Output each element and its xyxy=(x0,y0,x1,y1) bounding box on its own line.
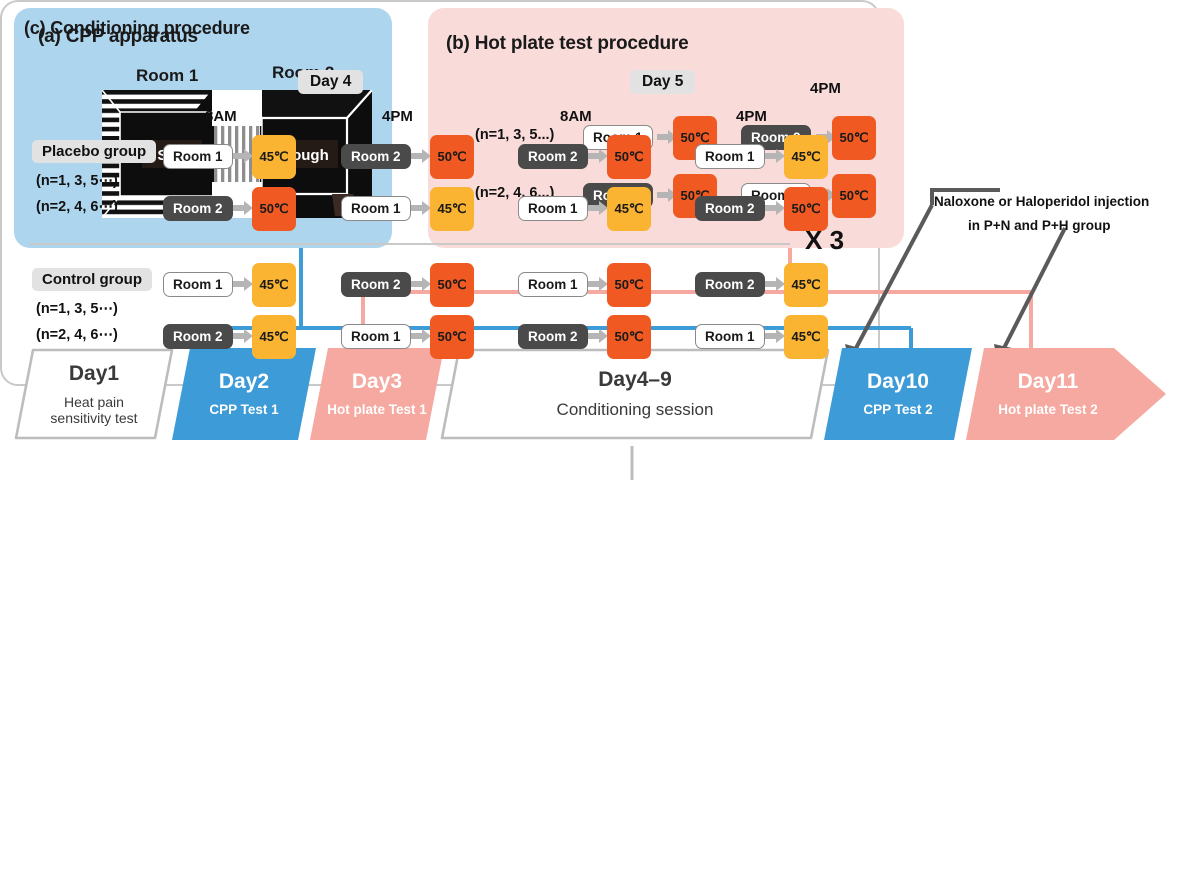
timeline-step-day10[interactable]: Day10 CPP Test 2 xyxy=(824,348,972,440)
timeline-step-day11[interactable]: Day11 Hot plate Test 2 xyxy=(966,348,1166,440)
placebo-r2-c1-room: Room 2 xyxy=(163,196,233,221)
arrow-right-icon xyxy=(588,201,608,215)
arrow-right-icon xyxy=(765,149,785,163)
arrow-right-icon xyxy=(765,329,785,343)
panel-c-placebo-n-odd: (n=1, 3, 5⋯) xyxy=(36,173,118,189)
arrow-right-icon xyxy=(411,329,431,343)
timeline-day-label: Day4–9 xyxy=(598,368,672,391)
arrow-right-icon xyxy=(588,149,608,163)
panel-c-group-label-placebo: Placebo group xyxy=(32,140,156,163)
control-r2-c3-room: Room 2 xyxy=(518,324,588,349)
placebo-r1-c2-temp: 50℃ xyxy=(430,135,474,179)
group-divider xyxy=(30,243,790,245)
panel-c-day-badge-1: Day 4 xyxy=(298,70,363,94)
control-r1-c3-temp: 50℃ xyxy=(607,263,651,307)
timeline-sub-label: Conditioning session xyxy=(557,400,714,420)
panel-c-title: (c) Conditioning procedure xyxy=(24,18,250,39)
panel-c-placebo-n-even: (n=2, 4, 6⋯) xyxy=(36,199,118,215)
panel-c-time-header-2: 4PM xyxy=(382,108,413,125)
cpp-room1-label: Room 1 xyxy=(136,66,198,86)
timeline-day-label: Day11 xyxy=(1018,370,1079,393)
timeline-step-day3[interactable]: Day3 Hot plate Test 1 xyxy=(310,348,444,440)
arrow-right-icon xyxy=(588,277,608,291)
control-r1-c4-room: Room 2 xyxy=(695,272,765,297)
placebo-r1-c2-room: Room 2 xyxy=(341,144,411,169)
arrow-right-icon xyxy=(233,201,253,215)
timeline-sub-label: Heat pain sensitivity test xyxy=(50,394,137,426)
panel-b-time-header-pm: 4PM xyxy=(810,80,841,97)
arrow-right-icon xyxy=(233,149,253,163)
placebo-r1-c4-temp: 45℃ xyxy=(784,135,828,179)
placebo-r2-c3-room: Room 1 xyxy=(518,196,588,221)
control-r1-c2-room: Room 2 xyxy=(341,272,411,297)
injection-note-line1: Naloxone or Haloperidol injection xyxy=(934,192,1149,212)
placebo-r1-c3-temp: 50℃ xyxy=(607,135,651,179)
panel-c-control-n-odd: (n=1, 3, 5⋯) xyxy=(36,301,118,317)
arrow-right-icon xyxy=(411,149,431,163)
timeline-step-day2[interactable]: Day2 CPP Test 1 xyxy=(172,348,316,440)
placebo-r1-c4-room: Room 1 xyxy=(695,144,765,169)
arrow-right-icon xyxy=(588,329,608,343)
timeline-sub-label: Hot plate Test 2 xyxy=(998,402,1098,418)
panel-c-day-badge-2: Day 5 xyxy=(630,70,695,94)
arrow-right-icon xyxy=(233,277,253,291)
placebo-r2-c4-room: Room 2 xyxy=(695,196,765,221)
panel-c-control-n-even: (n=2, 4, 6⋯) xyxy=(36,327,118,343)
placebo-r2-c2-temp: 45℃ xyxy=(430,187,474,231)
panel-c-time-header-4: 4PM xyxy=(736,108,767,125)
timeline-sub-label: CPP Test 1 xyxy=(209,402,278,418)
control-r2-c2-temp: 50℃ xyxy=(430,315,474,359)
arrow-right-icon xyxy=(765,277,785,291)
timeline-sub-label: Hot plate Test 1 xyxy=(327,402,427,418)
timeline-step-day1[interactable]: Day1 Heat pain sensitivity test xyxy=(14,348,174,440)
timeline-step-day4-9[interactable]: Day4–9 Conditioning session xyxy=(440,348,830,440)
panel-b-r1-pm-temp: 50℃ xyxy=(832,116,876,160)
control-r1-c1-room: Room 1 xyxy=(163,272,233,297)
panel-c-time-header-3: 8AM xyxy=(560,108,592,125)
panel-c-time-header-1: 8AM xyxy=(205,108,237,125)
timeline-day-label: Day10 xyxy=(867,370,929,393)
arrow-right-icon xyxy=(411,201,431,215)
panel-b-r2-pm-temp: 50℃ xyxy=(832,174,876,218)
control-r2-c2-room: Room 1 xyxy=(341,324,411,349)
arrow-right-icon xyxy=(411,277,431,291)
control-r1-c2-temp: 50℃ xyxy=(430,263,474,307)
timeline-day-label: Day1 xyxy=(69,362,119,385)
placebo-r2-c2-room: Room 1 xyxy=(341,196,411,221)
panel-b-n-label-odd: (n=1, 3, 5...) xyxy=(475,127,554,143)
control-r2-c4-temp: 45℃ xyxy=(784,315,828,359)
timeline-day-label: Day3 xyxy=(352,370,402,393)
control-r2-c1-temp: 45℃ xyxy=(252,315,296,359)
panel-b-title: (b) Hot plate test procedure xyxy=(446,33,688,55)
control-r2-c3-temp: 50℃ xyxy=(607,315,651,359)
injection-note-line2: in P+N and P+H group xyxy=(968,216,1111,236)
panel-c-group-label-control: Control group xyxy=(32,268,152,291)
experiment-timeline: Day1 Heat pain sensitivity test Day2 CPP… xyxy=(0,340,1200,450)
arrow-right-icon xyxy=(233,329,253,343)
placebo-r2-c1-temp: 50℃ xyxy=(252,187,296,231)
panel-hot-plate-procedure: (b) Hot plate test procedure 8AM 4PM (n=… xyxy=(428,8,904,248)
placebo-r1-c1-room: Room 1 xyxy=(163,144,233,169)
placebo-r1-c3-room: Room 2 xyxy=(518,144,588,169)
timeline-day-label: Day2 xyxy=(219,370,269,393)
diagram-canvas: (a) CPP apparatus Room 1 Room 2 xyxy=(0,0,1200,869)
control-r1-c4-temp: 45℃ xyxy=(784,263,828,307)
placebo-r2-c3-temp: 45℃ xyxy=(607,187,651,231)
control-r2-c1-room: Room 2 xyxy=(163,324,233,349)
control-r2-c4-room: Room 1 xyxy=(695,324,765,349)
arrow-right-icon xyxy=(765,201,785,215)
control-r1-c1-temp: 45℃ xyxy=(252,263,296,307)
timeline-sub-label: CPP Test 2 xyxy=(863,402,932,418)
placebo-r1-c1-temp: 45℃ xyxy=(252,135,296,179)
control-r1-c3-room: Room 1 xyxy=(518,272,588,297)
repeat-count-label: X 3 xyxy=(805,225,844,256)
